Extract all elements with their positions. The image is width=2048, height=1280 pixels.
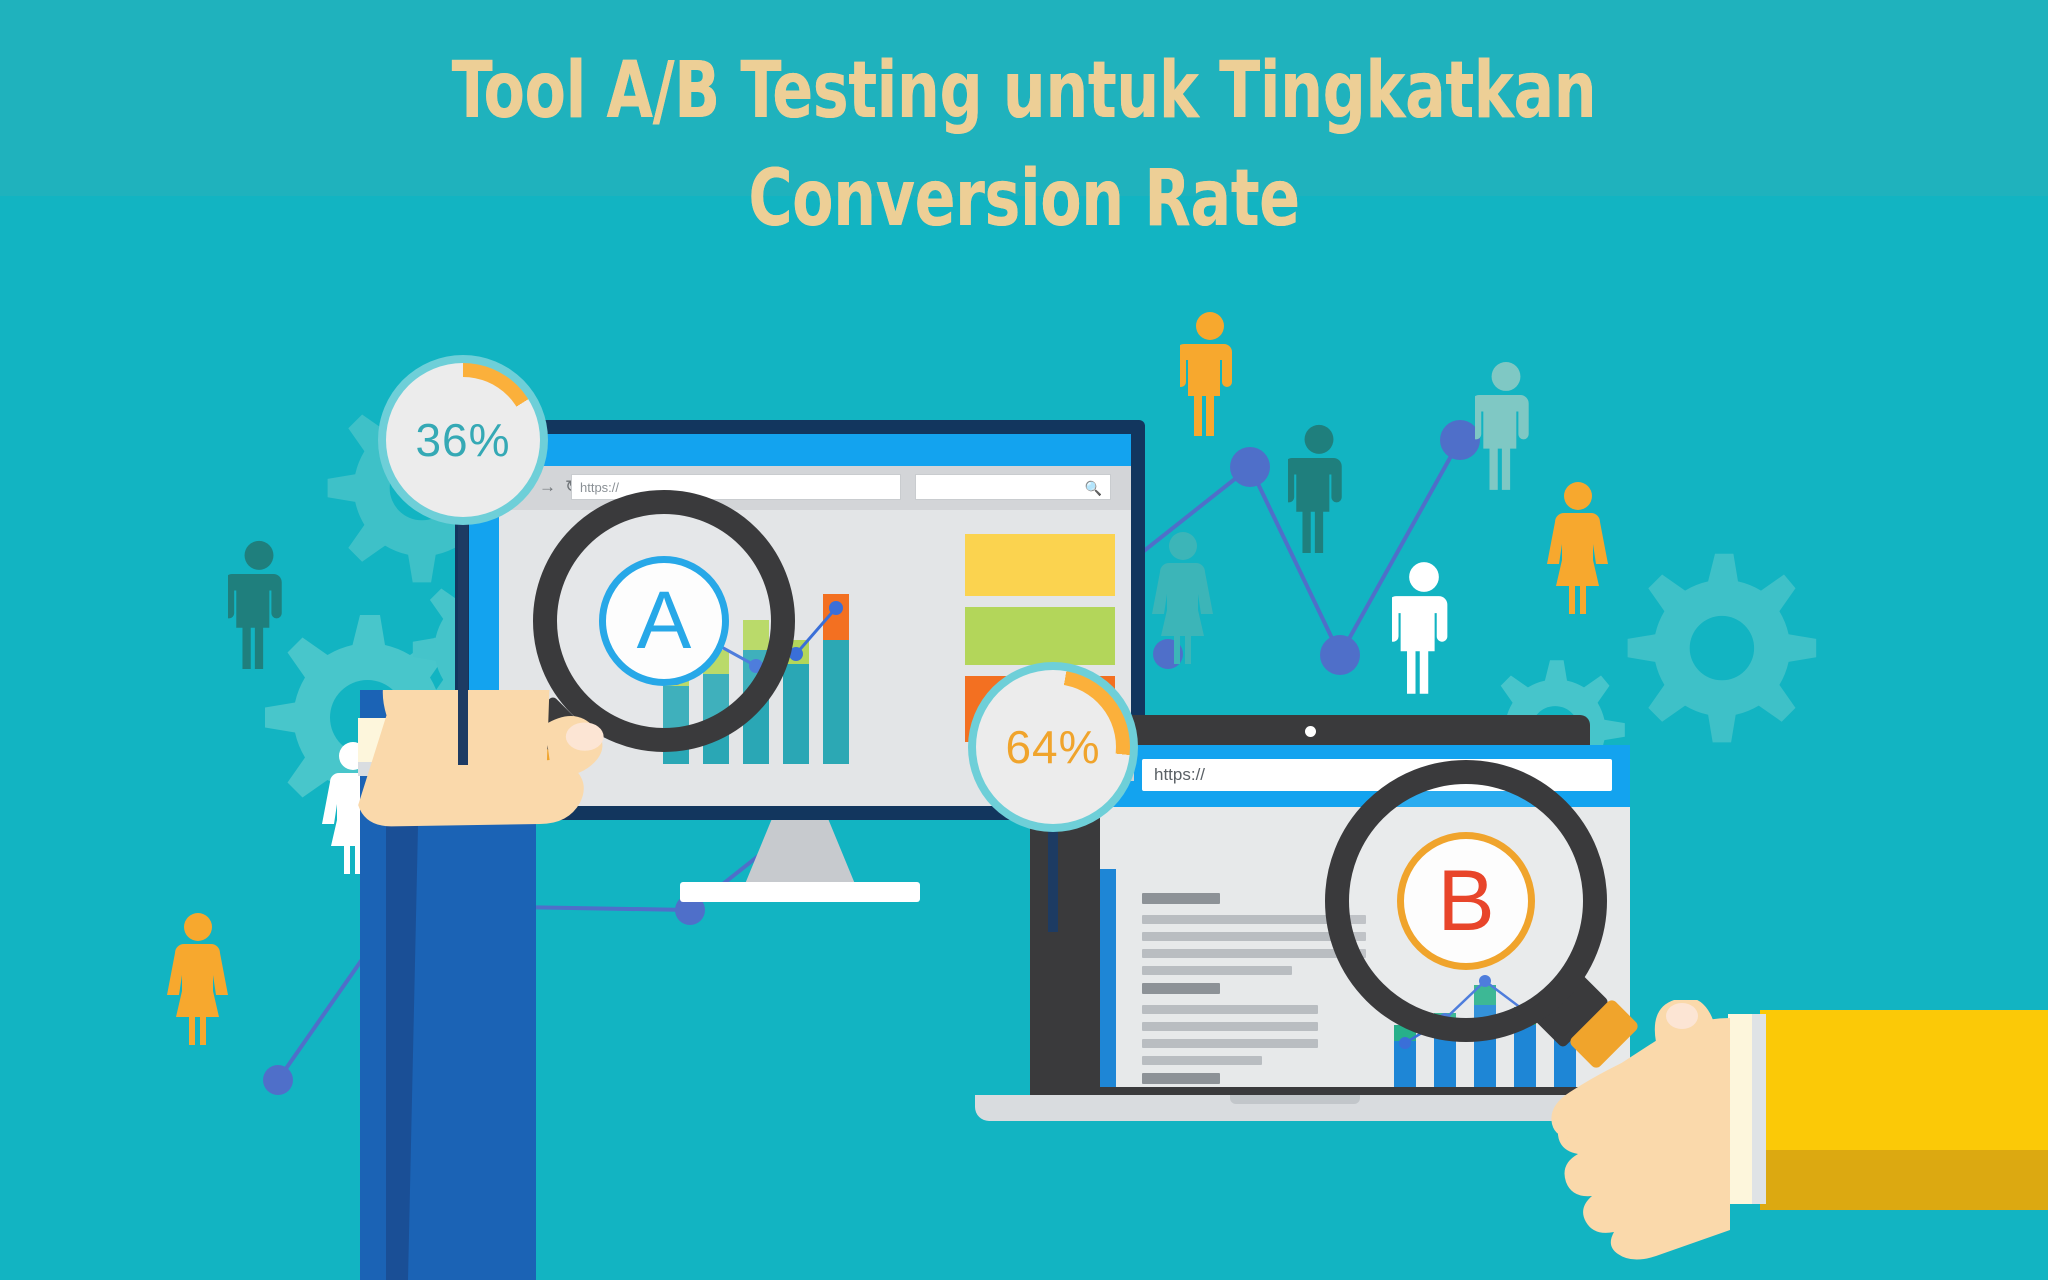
badge-36-value: 36%	[378, 355, 548, 525]
text-line	[1142, 1022, 1318, 1031]
person-teal-light-2	[1150, 530, 1216, 670]
page-side-accent	[1100, 869, 1116, 1087]
text-line	[1142, 966, 1292, 975]
right-hand[interactable]	[1530, 1000, 2048, 1280]
badge-36-percent: 36%	[378, 355, 548, 525]
person-white-1	[1392, 560, 1456, 698]
variant-letter-b: B	[1397, 832, 1535, 970]
text-line	[1142, 1005, 1318, 1014]
page-title-line-1: Tool A/B Testing untuk Tingkatkan	[452, 46, 1597, 136]
left-hand[interactable]	[330, 690, 800, 1280]
page-title-line-2: Conversion Rate	[748, 154, 1299, 244]
text-heading-line	[1142, 1073, 1220, 1084]
block-yellow	[965, 534, 1115, 596]
monitor-search-input[interactable]: 🔍	[915, 474, 1111, 500]
person-orange-woman	[1545, 480, 1611, 620]
text-heading-line	[1142, 893, 1220, 904]
block-green	[965, 607, 1115, 665]
variant-letter-a: A	[599, 556, 729, 686]
text-line	[1142, 1039, 1318, 1048]
badge-64-value: 64%	[968, 662, 1138, 832]
magnifier-b-lens: B	[1349, 784, 1583, 1018]
text-heading-line	[1142, 983, 1220, 994]
badge-64-percent: 64%	[968, 662, 1138, 832]
search-icon: 🔍	[1085, 480, 1102, 497]
webcam-icon	[1305, 726, 1316, 737]
page-title: Tool A/B Testing untuk Tingkatkan Conver…	[143, 38, 1904, 253]
person-orange-top	[1180, 310, 1240, 440]
person-teal-light-1	[1475, 360, 1537, 494]
illustration-canvas: ← → ↻ https:// 🔍	[0, 0, 2048, 1280]
person-orange-woman-2	[165, 910, 231, 1052]
person-teal-dark-1	[1288, 422, 1350, 558]
text-line	[1142, 1056, 1262, 1065]
person-teal-dark-2	[228, 538, 290, 674]
